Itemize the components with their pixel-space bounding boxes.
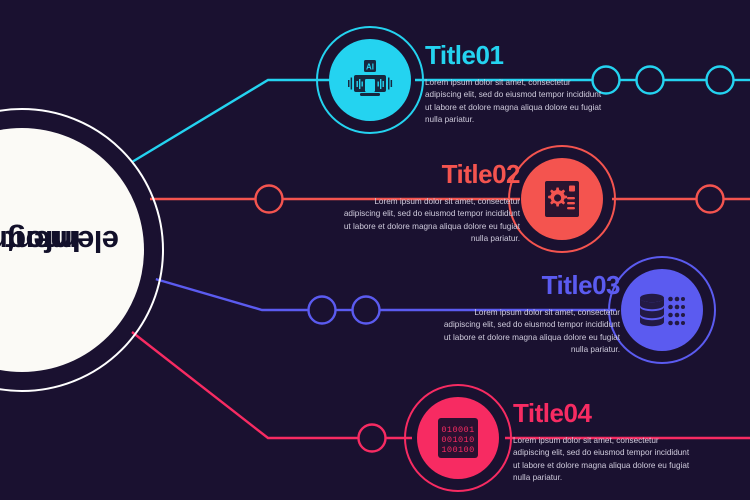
ai-voice-assistant-icon: AI	[316, 26, 424, 134]
svg-text:001010: 001010	[441, 435, 474, 445]
text-block-01: Title01 Lorem ipsum dolor sit amet, cons…	[425, 42, 605, 127]
node-circle-03[interactable]	[608, 256, 716, 364]
node-circle-01[interactable]: AI	[316, 26, 424, 134]
title-01: Title01	[425, 42, 605, 68]
gear-chip-icon	[508, 145, 616, 253]
body-03: Lorem ipsum dolor sit amet, consectetur …	[440, 307, 620, 357]
node-circle-04[interactable]: 010001 001010 100100	[404, 384, 512, 492]
binary-code-icon: 010001 001010 100100	[404, 384, 512, 492]
svg-text:010001: 010001	[441, 425, 474, 435]
svg-text:AI: AI	[366, 63, 374, 72]
text-block-02: Title02 Lorem ipsum dolor sit amet, cons…	[340, 161, 520, 246]
text-block-03: Title03 Lorem ipsum dolor sit amet, cons…	[440, 272, 620, 357]
body-04: Lorem ipsum dolor sit amet, consectetur …	[513, 435, 693, 485]
database-server-icon	[608, 256, 716, 364]
title-04: Title04	[513, 400, 693, 426]
infographic-canvas: Infographic element AI	[0, 0, 750, 500]
title-02: Title02	[340, 161, 520, 187]
hero-circle: Infographic element	[0, 108, 164, 392]
node-circle-02[interactable]	[508, 145, 616, 253]
body-01: Lorem ipsum dolor sit amet, consectetur …	[425, 77, 605, 127]
hero-label-line2: element	[0, 225, 144, 257]
text-block-04: Title04 Lorem ipsum dolor sit amet, cons…	[513, 400, 693, 485]
title-03: Title03	[440, 272, 620, 298]
body-02: Lorem ipsum dolor sit amet, consectetur …	[340, 196, 520, 246]
svg-text:100100: 100100	[441, 445, 474, 455]
hero-label: Infographic element	[0, 108, 164, 392]
